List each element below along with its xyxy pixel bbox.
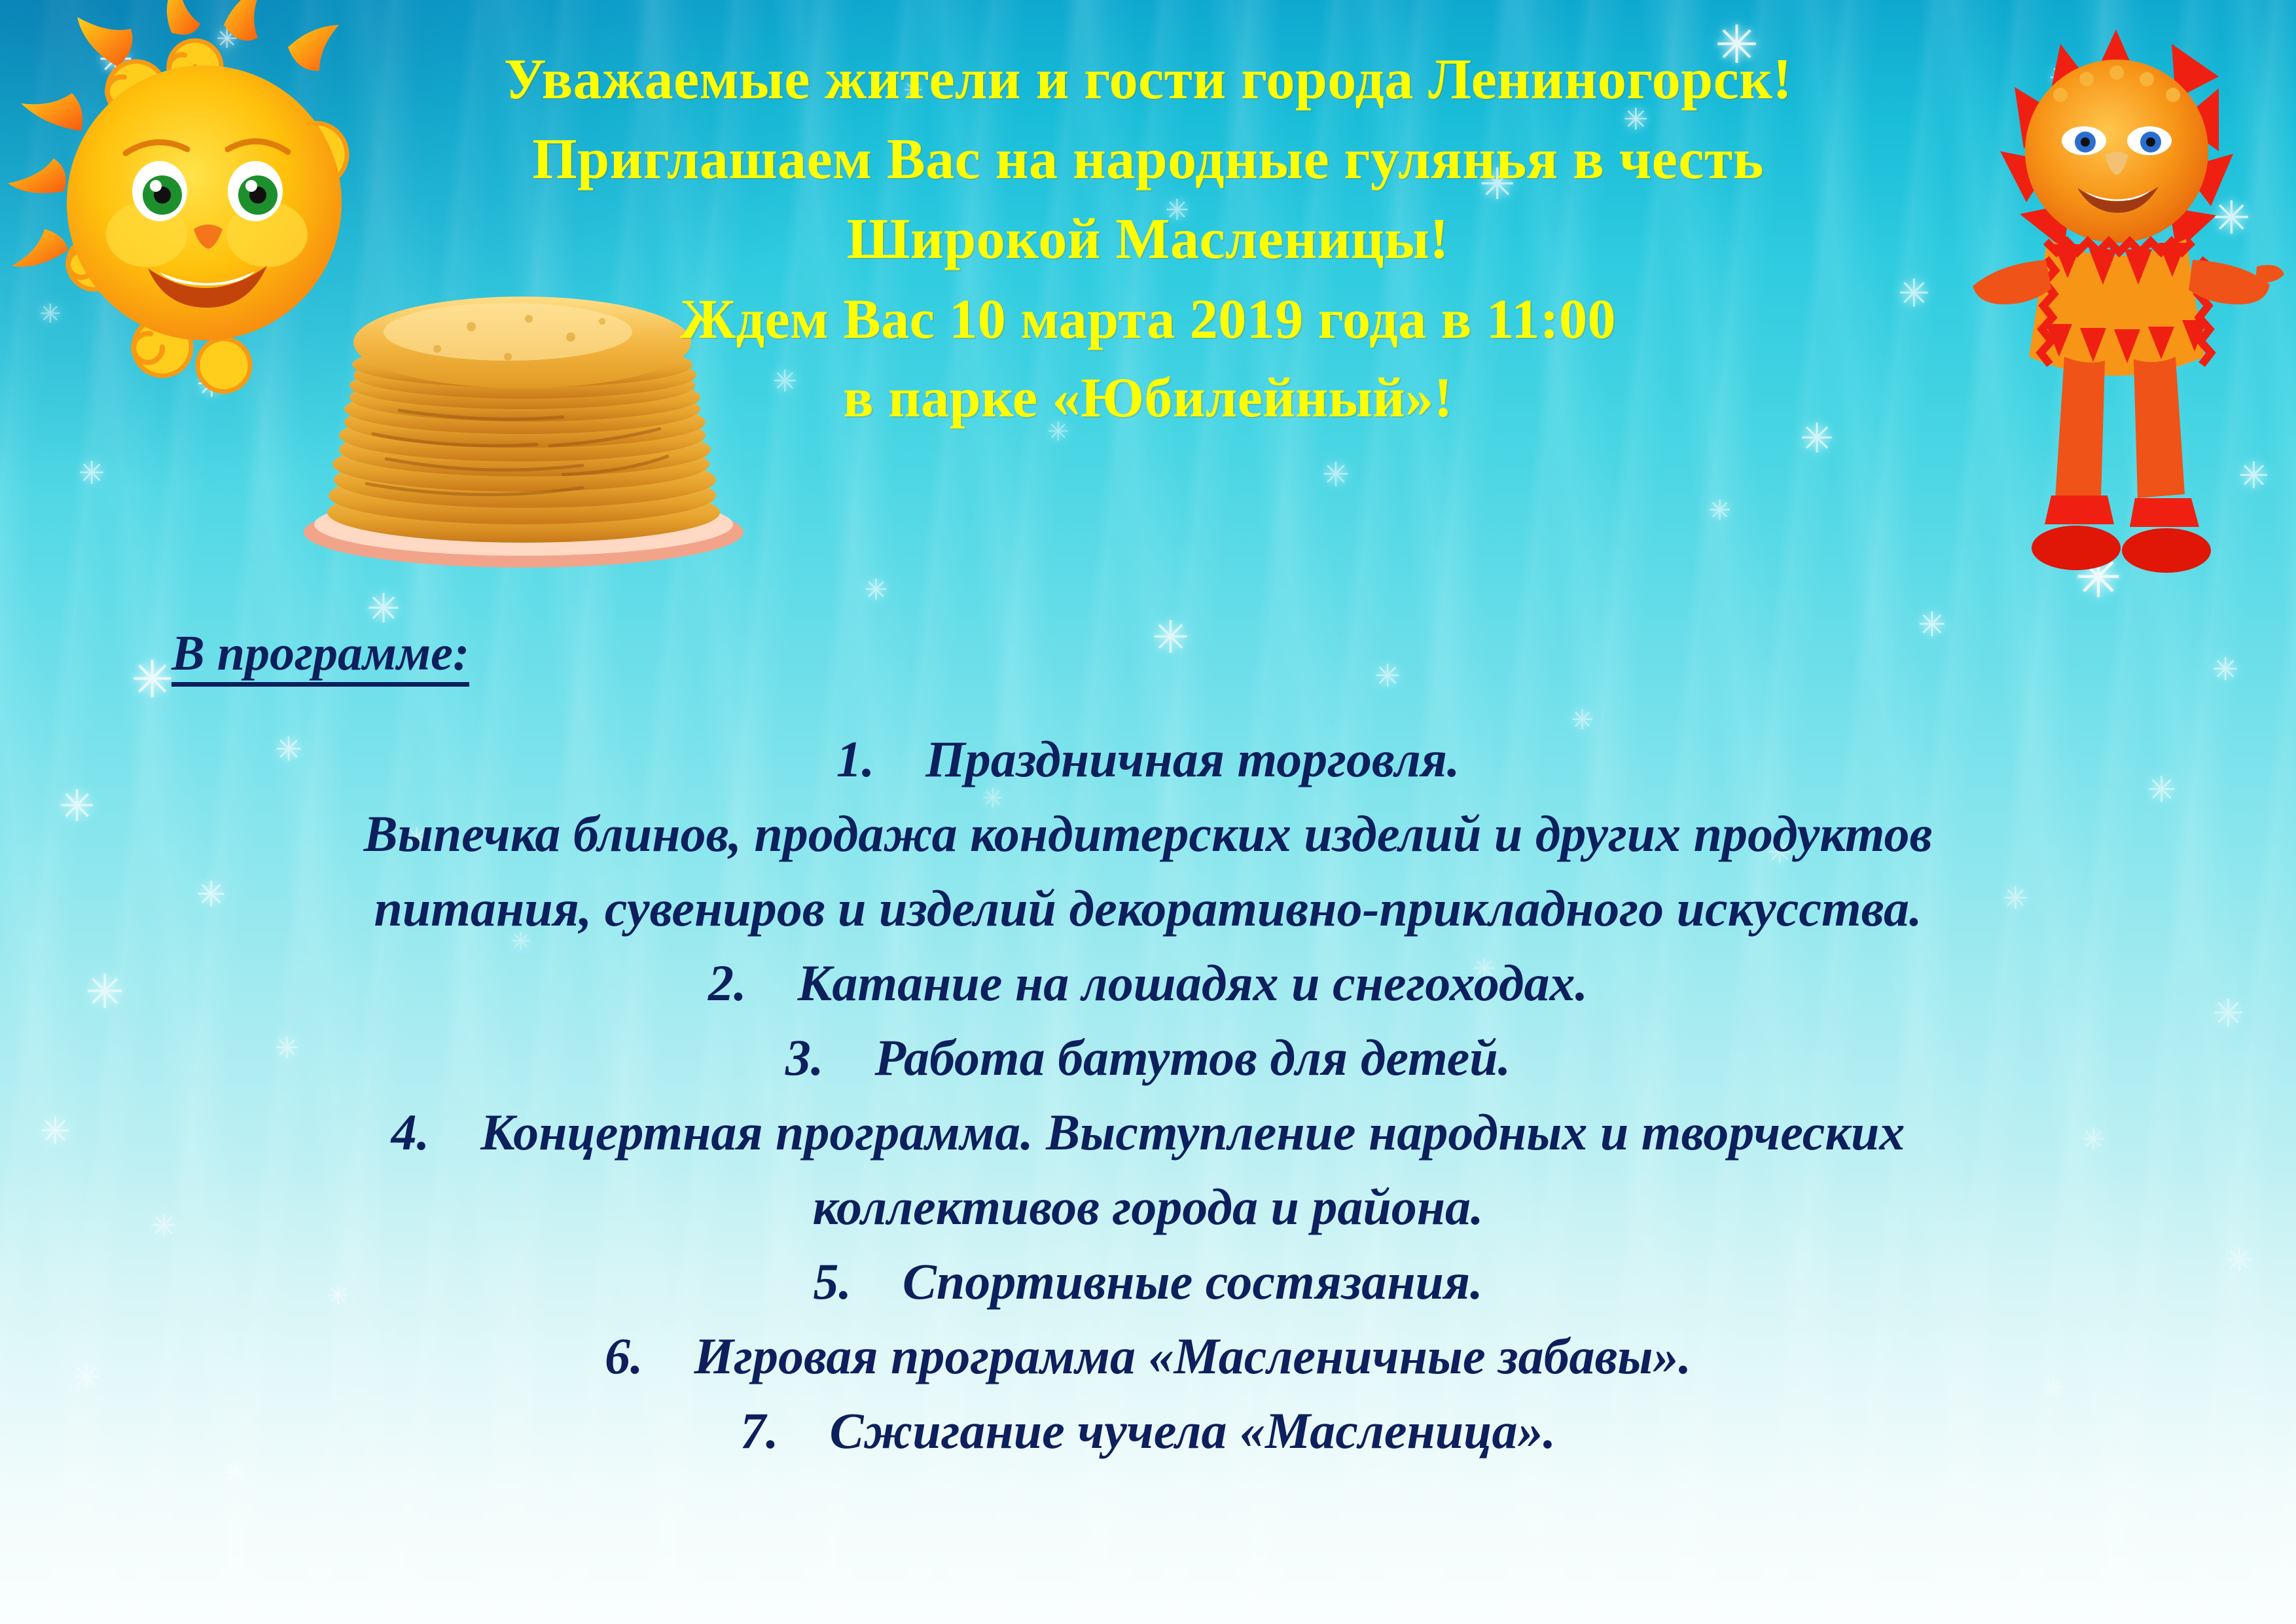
program-item-1: 1. Праздничная торговля. xyxy=(0,734,2296,785)
program-heading: В программе: xyxy=(171,628,469,687)
program-block: В программе: 1. Праздничная торговля. Вы… xyxy=(0,628,2296,1456)
program-item-1-detail-b: питания, сувениров и изделий декоративно… xyxy=(0,883,2296,934)
program-item-7: 7. Сжигание чучела «Масленица». xyxy=(0,1405,2296,1456)
snowflake-icon: ✳ xyxy=(367,589,401,630)
spacer xyxy=(0,687,2296,734)
maslenitsa-poster: ✳ ✳ ✳ ✳ ✳ ✳ ✳ ✳ ✳ ✳ ✳ ✳ ✳ ✳ ✳ ✳ ✳ ✳ ✳ ✳ … xyxy=(0,0,2296,1624)
snowflake-icon: ✳ xyxy=(864,576,888,605)
program-item-1-detail-a: Выпечка блинов, продажа кондитерских изд… xyxy=(0,808,2296,859)
headline-line-1: Уважаемые жители и гости города Лениного… xyxy=(0,51,2296,109)
program-heading-row: В программе: xyxy=(0,628,2296,687)
program-item-5: 5. Спортивные состязания. xyxy=(0,1256,2296,1307)
headline-line-3: Широкой Масленицы! xyxy=(0,211,2296,268)
headline-line-4: Ждем Вас 10 марта 2019 года в 11:00 xyxy=(0,291,2296,347)
program-item-4: 4. Концертная программа. Выступление нар… xyxy=(0,1107,2296,1158)
headline-block: Уважаемые жители и гости города Лениного… xyxy=(0,51,2296,425)
program-item-2: 2. Катание на лошадях и снегоходах. xyxy=(0,958,2296,1009)
headline-line-2: Приглашаем Вас на народные гулянья в чес… xyxy=(0,131,2296,189)
program-item-3: 3. Работа батутов для детей. xyxy=(0,1032,2296,1083)
snowflake-icon: ✳ xyxy=(223,1460,247,1489)
snowflake-icon: ✳ xyxy=(1322,458,1350,491)
snowflake-icon: ✳ xyxy=(1708,497,1731,525)
program-item-6: 6. Игровая программа «Масленичные забавы… xyxy=(0,1331,2296,1382)
headline-line-5: в парке «Юбилейный»! xyxy=(0,369,2296,425)
snowflake-icon: ✳ xyxy=(79,458,105,490)
program-item-4-cont: коллективов города и района. xyxy=(0,1182,2296,1233)
